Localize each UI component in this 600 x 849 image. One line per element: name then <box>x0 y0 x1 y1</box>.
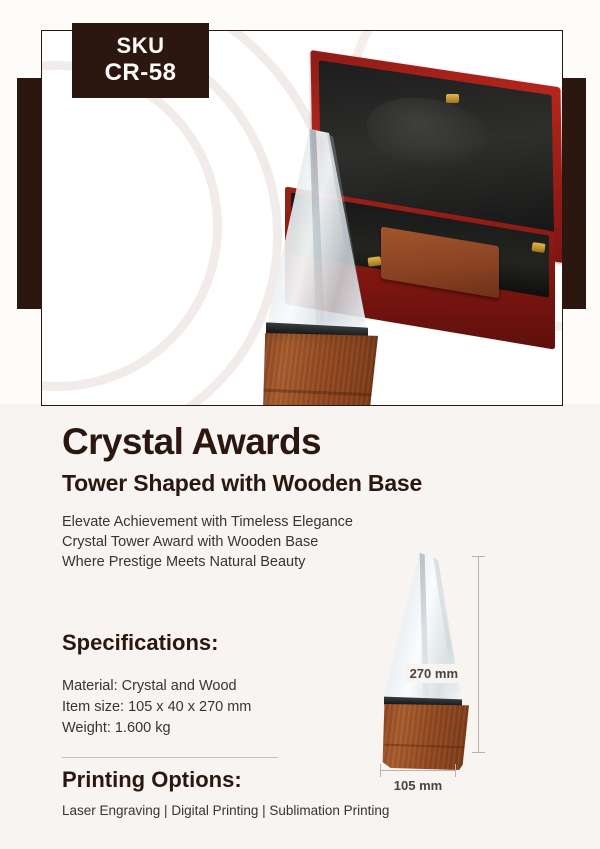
printing-options-heading: Printing Options: <box>62 767 242 793</box>
product-sheet-page: SKU CR-58 Crystal Awards Tower Shaped wi… <box>0 0 600 849</box>
specifications-heading: Specifications: <box>62 630 218 656</box>
height-measure-line <box>478 556 479 753</box>
specification-item: Item size: 105 x 40 x 270 mm <box>62 697 251 718</box>
diagram-wood-grain <box>379 704 469 770</box>
box-hinge-icon <box>531 242 545 253</box>
height-dimension-label: 270 mm <box>406 664 462 683</box>
width-measure-cap-right <box>455 764 456 777</box>
width-measure-cap-left <box>380 764 381 777</box>
specification-item: Weight: 1.600 kg <box>62 718 251 739</box>
specification-item: Material: Crystal and Wood <box>62 676 251 697</box>
specifications-list: Material: Crystal and Wood Item size: 10… <box>62 676 251 739</box>
decorative-bar-right <box>562 78 586 309</box>
diagram-wooden-base <box>379 704 469 770</box>
diagram-award-illustration <box>378 553 470 765</box>
height-measure-cap-bottom <box>472 752 485 753</box>
height-measure-cap-top <box>472 556 485 557</box>
box-hinge-icon <box>446 94 459 103</box>
description-line: Crystal Tower Award with Wooden Base <box>62 532 353 552</box>
printing-options-text: Laser Engraving | Digital Printing | Sub… <box>62 803 389 818</box>
wooden-base <box>258 333 378 406</box>
decorative-bar-left <box>17 78 41 309</box>
description-line: Elevate Achievement with Timeless Elegan… <box>62 512 353 532</box>
description-line: Where Prestige Meets Natural Beauty <box>62 552 353 572</box>
page-title: Crystal Awards <box>62 421 321 463</box>
dimension-diagram: 270 mm 105 mm <box>370 548 585 788</box>
page-subtitle: Tower Shaped with Wooden Base <box>62 470 422 497</box>
sku-label: SKU <box>117 34 165 58</box>
sku-value: CR-58 <box>105 60 177 86</box>
product-description: Elevate Achievement with Timeless Elegan… <box>62 512 353 572</box>
sku-badge: SKU CR-58 <box>72 23 209 98</box>
width-dimension-label: 105 mm <box>390 776 446 795</box>
section-divider <box>62 757 278 758</box>
crystal-award-photo <box>256 129 386 406</box>
width-measure-line <box>380 770 456 771</box>
